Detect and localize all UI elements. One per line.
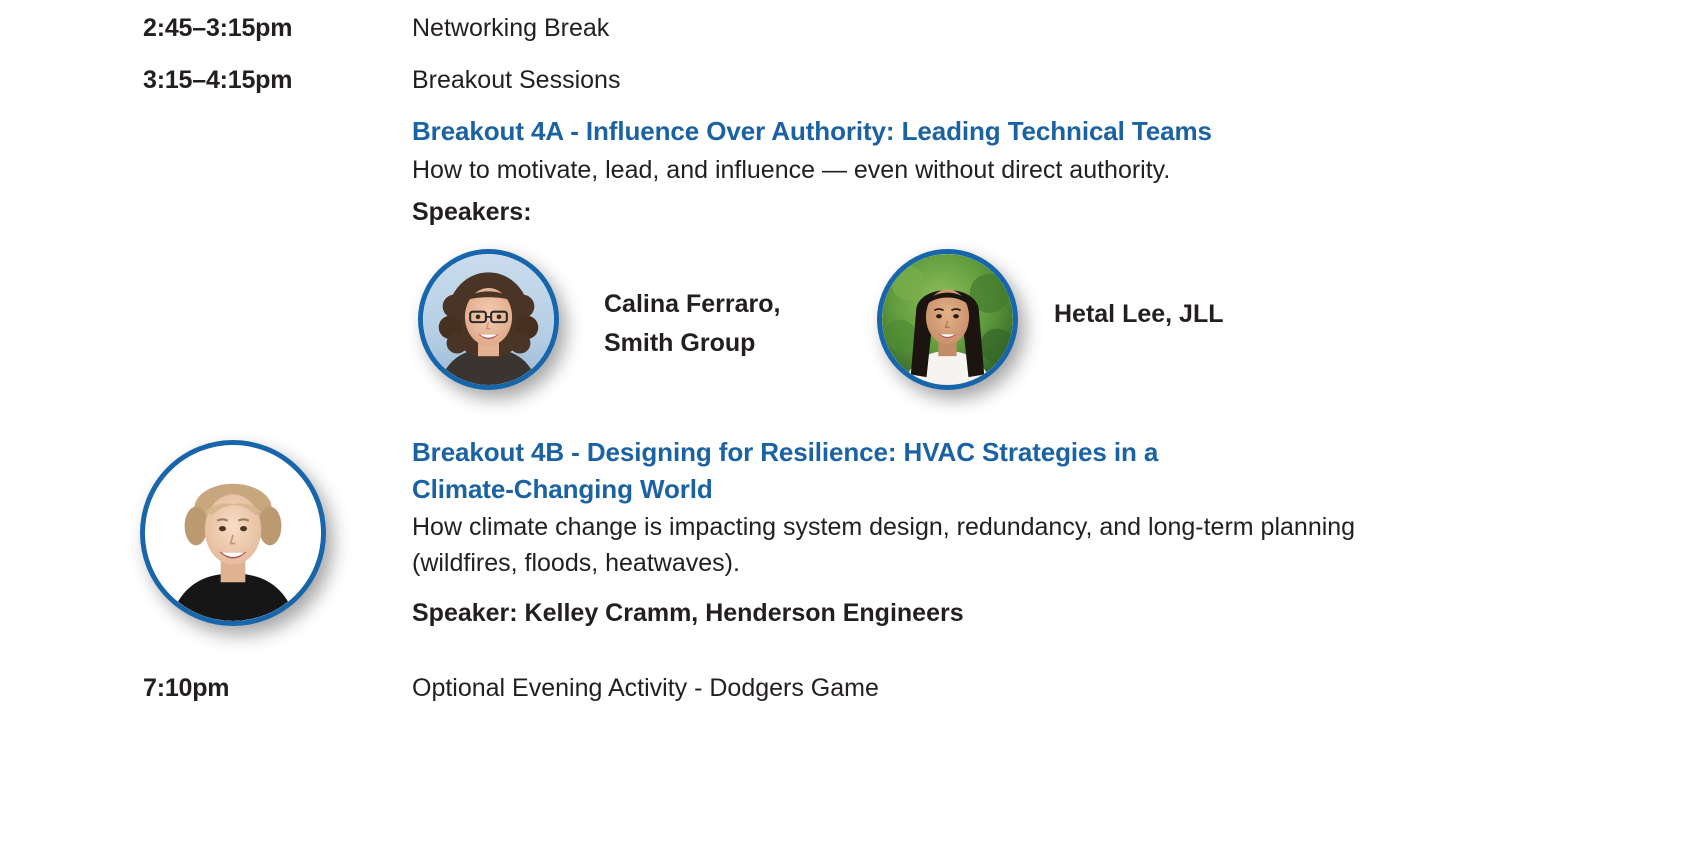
session-4a-title: Breakout 4A - Influence Over Authority: … (412, 113, 1212, 150)
speaker-name-calina-ferraro: Calina Ferraro, Smith Group (604, 285, 780, 363)
session-4b-subtitle-line2: (wildfires, floods, heatwaves). (412, 545, 740, 581)
session-4a-subtitle: How to motivate, lead, and influence — e… (412, 152, 1170, 188)
hetal-lee-photo (877, 249, 1018, 390)
speaker-name-hetal-lee: Hetal Lee, JLL (1054, 295, 1224, 334)
agenda-time-networking-break: 2:45–3:15pm (143, 14, 292, 43)
hetal-lee-photo-inner (882, 254, 1013, 385)
agenda-description-evening-activity: Optional Evening Activity - Dodgers Game (412, 674, 879, 703)
kelley-cramm-photo-inner (145, 445, 321, 621)
session-4b-subtitle-line1: How climate change is impacting system d… (412, 509, 1355, 545)
agenda-time-breakout-sessions: 3:15–4:15pm (143, 66, 292, 95)
calina-ferraro-photo-inner (423, 254, 554, 385)
session-4b-title-line2: Climate-Changing World (412, 471, 713, 508)
agenda-page: 2:45–3:15pm Networking Break 3:15–4:15pm… (0, 0, 1700, 846)
kelley-cramm-photo (140, 440, 326, 626)
calina-ferraro-photo (418, 249, 559, 390)
agenda-description-breakout-sessions: Breakout Sessions (412, 66, 620, 95)
session-4b-title-line1: Breakout 4B - Designing for Resilience: … (412, 434, 1158, 471)
agenda-time-evening-activity: 7:10pm (143, 674, 229, 703)
session-4a-speakers-label: Speakers: (412, 198, 532, 227)
session-4b-speaker-line: Speaker: Kelley Cramm, Henderson Enginee… (412, 599, 964, 628)
agenda-description-networking-break: Networking Break (412, 14, 609, 43)
